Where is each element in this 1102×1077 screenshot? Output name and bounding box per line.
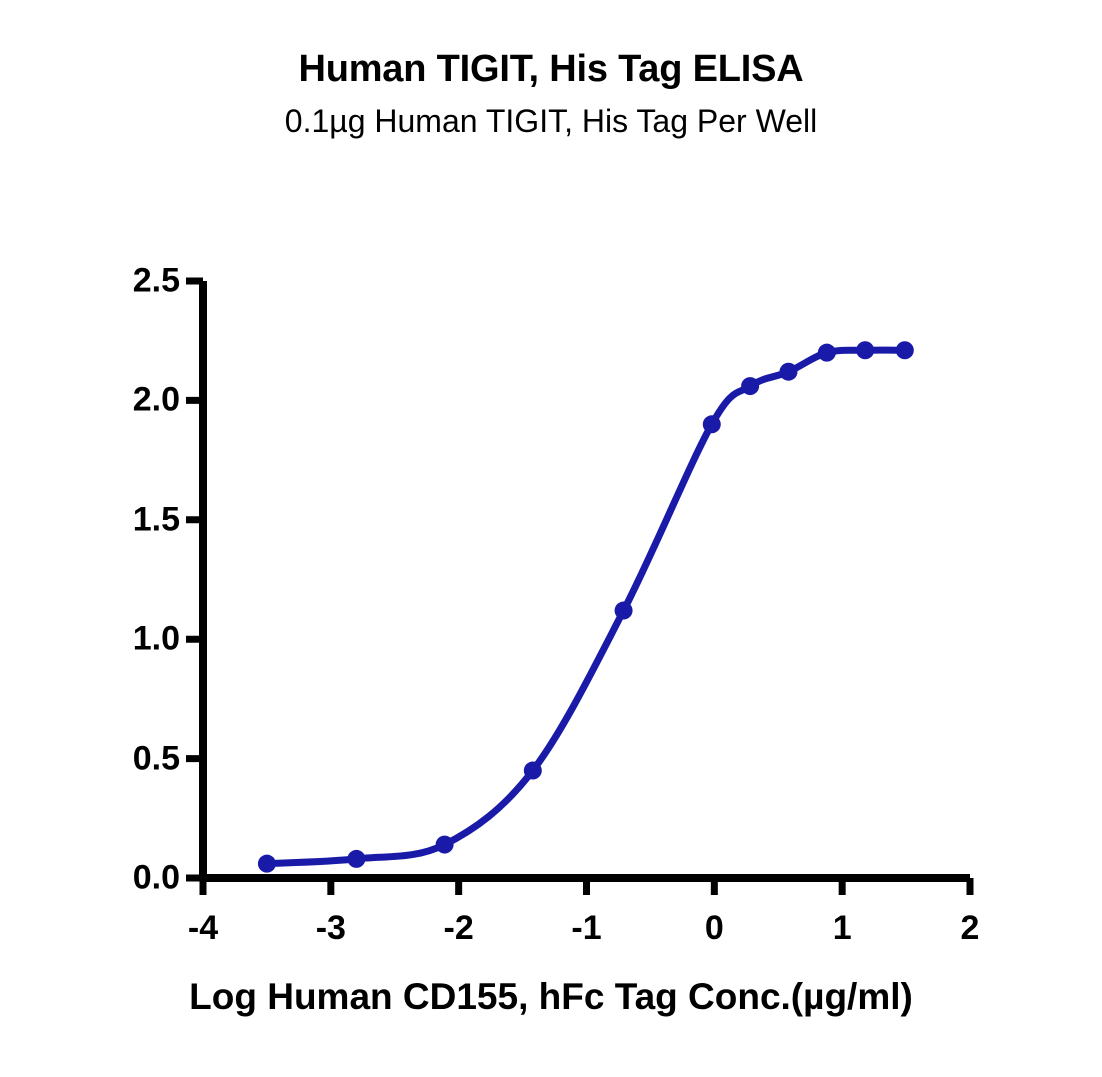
- data-point-marker: [856, 341, 874, 359]
- data-point-marker: [347, 850, 365, 868]
- x-tick-label: 1: [833, 909, 852, 948]
- y-tick-label: 1.0: [60, 620, 180, 659]
- x-tick-label: -1: [571, 909, 601, 948]
- data-point-marker: [258, 855, 276, 873]
- y-tick-label: 1.5: [60, 500, 180, 539]
- data-point-marker: [896, 341, 914, 359]
- axes-group: [186, 281, 970, 895]
- y-tick-label: 0.5: [60, 739, 180, 778]
- y-tick-label: 2.5: [60, 262, 180, 301]
- x-tick-label: 2: [961, 909, 980, 948]
- data-point-marker: [436, 836, 454, 854]
- data-point-marker: [741, 377, 759, 395]
- data-series-group: [258, 341, 914, 872]
- data-point-marker: [779, 363, 797, 381]
- series-line: [267, 350, 905, 864]
- x-axis-title: Log Human CD155, hFc Tag Conc.(µg/ml): [0, 976, 1102, 1018]
- y-tick-label: 2.0: [60, 381, 180, 420]
- data-point-marker: [818, 344, 836, 362]
- data-point-marker: [615, 602, 633, 620]
- x-tick-label: -2: [444, 909, 474, 948]
- data-point-marker: [524, 762, 542, 780]
- elisa-chart: Human TIGIT, His Tag ELISA 0.1µg Human T…: [0, 0, 1102, 1077]
- x-tick-label: -3: [316, 909, 346, 948]
- y-tick-label: 0.0: [60, 859, 180, 898]
- x-tick-label: 0: [705, 909, 724, 948]
- x-tick-label: -4: [188, 909, 218, 948]
- data-point-marker: [703, 415, 721, 433]
